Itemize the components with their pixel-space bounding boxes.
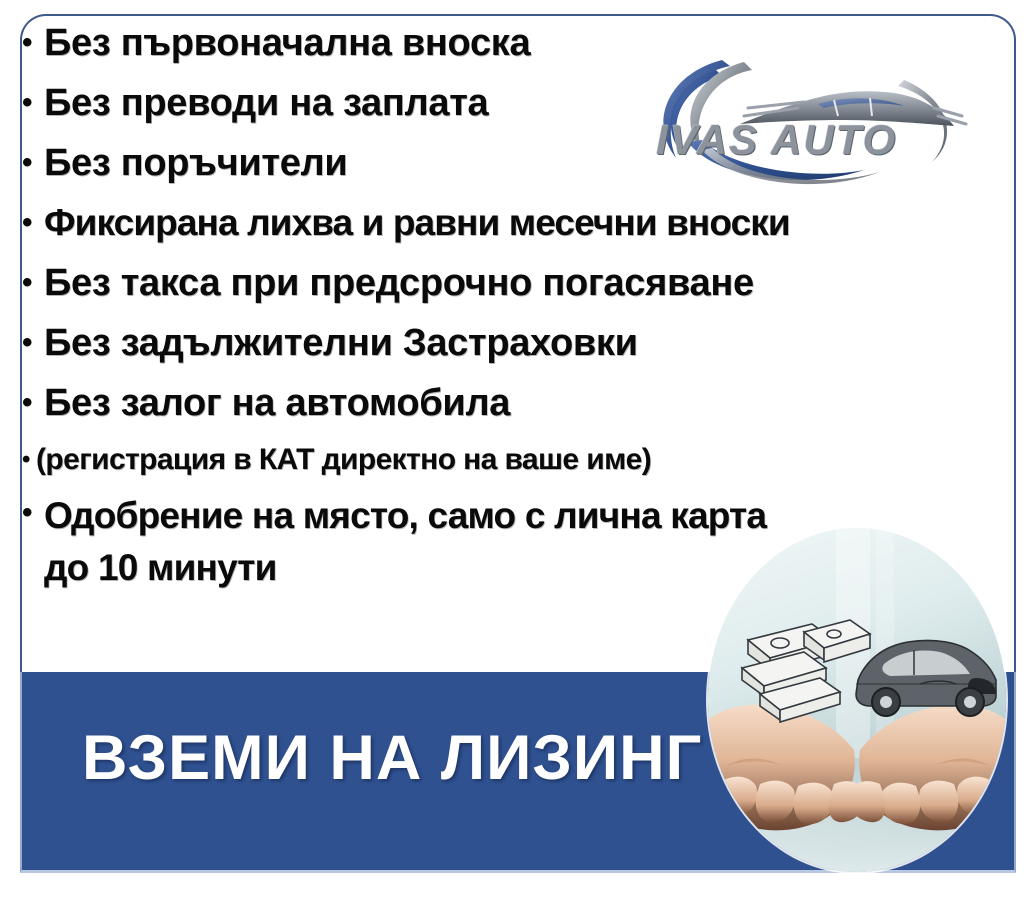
bullet-dot-icon: •	[22, 260, 44, 306]
list-item: • Без задължителни Застраховки	[22, 320, 997, 366]
bullet-dot-icon: •	[22, 80, 44, 126]
list-item: • Без такса при предсрочно погасяване	[22, 260, 997, 306]
bullet-dot-icon: •	[22, 490, 44, 536]
bullet-dot-icon: •	[22, 140, 44, 186]
bullet-dot-icon: •	[22, 440, 36, 480]
list-item: • Без залог на автомобила	[22, 380, 997, 426]
cta-banner-title: ВЗЕМИ НА ЛИЗИНГ	[82, 724, 702, 792]
ivas-auto-logo: IVAS AUTO	[648, 46, 978, 186]
list-item-label: Без залог на автомобила	[44, 380, 997, 426]
logo-wordmark: IVAS AUTO	[656, 118, 976, 162]
bullet-dot-icon: •	[22, 320, 44, 366]
bullet-dot-icon: •	[22, 20, 44, 66]
list-item-label: (регистрация в КАТ директно на ваше име)	[36, 440, 997, 480]
list-item-label: Без такса при предсрочно погасяване	[44, 260, 997, 306]
bullet-dot-icon: •	[22, 200, 44, 246]
bullet-dot-icon: •	[22, 380, 44, 426]
leasing-advert-poster: • Без първоначална вноска • Без преводи …	[0, 0, 1033, 902]
list-item: • Фиксирана лихва и равни месечни вноски	[22, 200, 997, 246]
hands-money-car-photo	[708, 528, 1006, 872]
list-item-label: Фиксирана лихва и равни месечни вноски	[44, 200, 997, 246]
list-item-label: Без задължителни Застраховки	[44, 320, 997, 366]
list-item: • (регистрация в КАТ директно на ваше им…	[22, 440, 997, 480]
